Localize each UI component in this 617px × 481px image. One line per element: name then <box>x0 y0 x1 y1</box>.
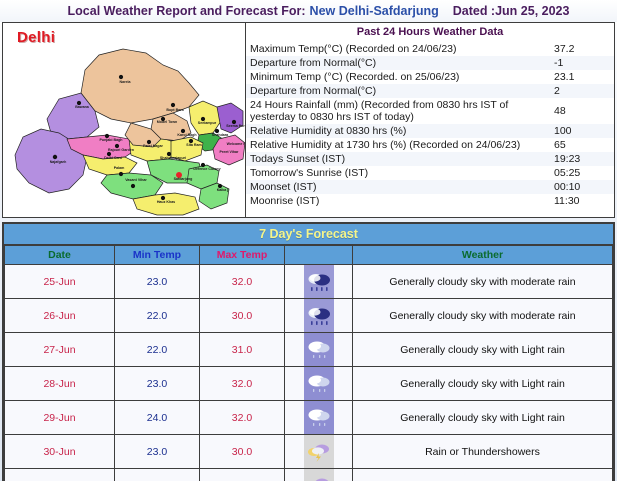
forecast-section: 7 Day's Forecast Date Min Temp Max Temp … <box>2 222 615 481</box>
map-title: Delhi <box>17 29 55 46</box>
past-24h-value: 37.2 <box>554 43 608 55</box>
map-label: Welcome Pur <box>227 142 246 146</box>
past-24h-value: 05:25 <box>554 167 608 179</box>
past-24h-label: Departure from Normal(°C) <box>250 57 554 69</box>
cell-date: 27-Jun <box>5 333 115 367</box>
map-label: Kalka ji <box>217 188 230 192</box>
table-row[interactable]: 28-Jun23.032.0Generally cloudy sky with … <box>5 367 613 401</box>
cell-weather-text: Generally cloudy sky with Light rain <box>353 367 613 401</box>
past-24h-title: Past 24 Hours Weather Data <box>246 23 614 42</box>
delhi-map-panel[interactable]: Delhi <box>3 23 246 217</box>
map-label: Model Town <box>157 120 178 124</box>
map-label: Seelampur <box>198 121 217 125</box>
map-label: Shahdara <box>212 133 229 137</box>
cell-weather-text: Generally cloudy sky with moderate rain <box>353 265 613 299</box>
map-label: Patel Nagar <box>143 144 163 148</box>
past-24h-row: Moonrise (IST)11:30 <box>246 194 614 208</box>
past-24h-value: 23.1 <box>554 71 608 83</box>
past-24h-value: 19:23 <box>554 153 608 165</box>
past-24h-label: 24 Hours Rainfall (mm) (Recorded from 08… <box>250 99 554 123</box>
cell-max-temp: 30.0 <box>200 435 285 469</box>
past-24h-label: Departure from Normal(°C) <box>250 85 554 97</box>
map-label: Karol Bagh <box>177 133 196 137</box>
map-label: Seema Puri <box>226 124 246 128</box>
map-label: Bupt Bara <box>166 108 184 112</box>
cell-weather-icon <box>285 469 353 481</box>
map-label: Palam <box>114 166 125 170</box>
cell-min-temp: 23.0 <box>115 367 200 401</box>
table-row[interactable]: 29-Jun24.032.0Generally cloudy sky with … <box>5 401 613 435</box>
cell-min-temp: 22.0 <box>115 333 200 367</box>
cell-weather-text: Generally cloudy sky with Light rain <box>353 333 613 367</box>
past-24h-row: Relative Humidity at 0830 hrs (%)100 <box>246 124 614 138</box>
delhi-district-map[interactable]: NarelaBawanaBupt BaraModel TownSeelampur… <box>3 23 246 217</box>
cell-date: 29-Jun <box>5 401 115 435</box>
map-label: Safdarjung <box>174 177 193 181</box>
past-24h-value: 11:30 <box>554 195 608 207</box>
cell-date: 01-Jul <box>5 469 115 481</box>
cell-weather-icon <box>285 333 353 367</box>
past-24h-value: 65 <box>554 139 608 151</box>
cell-max-temp: 32.0 <box>200 367 285 401</box>
cell-max-temp: 31.0 <box>200 333 285 367</box>
past-24h-panel: Past 24 Hours Weather Data Maximum Temp(… <box>246 23 614 217</box>
weather-report-page: Local Weather Report and Forecast For: N… <box>0 0 617 481</box>
map-label: Vasant Vihar <box>125 178 147 182</box>
past-24h-row: Tomorrow's Sunrise (IST)05:25 <box>246 166 614 180</box>
forecast-title: 7 Day's Forecast <box>4 224 613 246</box>
table-row[interactable]: 30-Jun23.030.0Rain or Thundershowers <box>5 435 613 469</box>
title-prefix: Local Weather Report and Forecast For: <box>68 4 306 18</box>
cell-max-temp: 30.0 <box>200 299 285 333</box>
cell-min-temp: 24.0 <box>115 401 200 435</box>
moderate-rain-icon <box>304 265 334 298</box>
upper-section: Delhi <box>2 22 615 218</box>
past-24h-row: Minimum Temp (°C) (Recorded. on 25/06/23… <box>246 70 614 84</box>
cell-date: 26-Jun <box>5 299 115 333</box>
past-24h-row: Todays Sunset (IST)19:23 <box>246 152 614 166</box>
map-label: Bawana <box>75 105 90 109</box>
cell-date: 30-Jun <box>5 435 115 469</box>
cell-max-temp: 32.0 <box>200 265 285 299</box>
cell-min-temp: 23.0 <box>115 469 200 481</box>
past-24h-row: Departure from Normal(°C)-1 <box>246 56 614 70</box>
cell-date: 28-Jun <box>5 367 115 401</box>
past-24h-value: 100 <box>554 125 608 137</box>
map-label: Narela <box>120 80 132 84</box>
past-24h-row: Relative Humidity at 1730 hrs (%) (Recor… <box>246 138 614 152</box>
past-24h-label: Maximum Temp(°C) (Recorded on 24/06/23) <box>250 43 554 55</box>
map-label: Rajouri Garden <box>108 148 134 152</box>
past-24h-label: Minimum Temp (°C) (Recorded. on 25/06/23… <box>250 71 554 83</box>
cell-min-temp: 23.0 <box>115 435 200 469</box>
past-24h-label: Todays Sunset (IST) <box>250 153 554 165</box>
past-24h-value: -1 <box>554 57 608 69</box>
table-row[interactable]: 01-Jul23.031.0Rain or Thundershowers <box>5 469 613 481</box>
past-24h-value: 2 <box>554 85 608 97</box>
map-label: Preet Vihar <box>220 150 240 154</box>
table-row[interactable]: 25-Jun23.032.0Generally cloudy sky with … <box>5 265 613 299</box>
cell-weather-text: Rain or Thundershowers <box>353 469 613 481</box>
map-label: Shahdarajapuri <box>160 156 186 160</box>
cell-min-temp: 23.0 <box>115 265 200 299</box>
map-label: Punjabi Bagh <box>100 138 123 142</box>
column-header-min-temp[interactable]: Min Temp <box>115 246 200 265</box>
past-24h-rows: Maximum Temp(°C) (Recorded on 24/06/23)3… <box>246 42 614 208</box>
forecast-header-row: Date Min Temp Max Temp Weather <box>5 246 613 265</box>
map-label: Hauz Khas <box>157 200 175 204</box>
page-title: Local Weather Report and Forecast For: N… <box>0 0 617 22</box>
cell-min-temp: 22.0 <box>115 299 200 333</box>
cell-weather-text: Rain or Thundershowers <box>353 435 613 469</box>
moderate-rain-icon <box>304 299 334 332</box>
past-24h-value: 48 <box>554 105 608 117</box>
cell-weather-text: Generally cloudy sky with moderate rain <box>353 299 613 333</box>
map-label: Najafgarh <box>50 160 67 164</box>
region-seema-puri[interactable] <box>217 103 243 133</box>
forecast-table: Date Min Temp Max Temp Weather 25-Jun23.… <box>4 246 613 481</box>
past-24h-row: 24 Hours Rainfall (mm) (Recorded from 08… <box>246 98 614 124</box>
light-rain-icon <box>304 367 334 400</box>
past-24h-label: Tomorrow's Sunrise (IST) <box>250 167 554 179</box>
thundershower-icon <box>304 435 334 468</box>
past-24h-value: 00:10 <box>554 181 608 193</box>
table-row[interactable]: 27-Jun22.031.0Generally cloudy sky with … <box>5 333 613 367</box>
table-row[interactable]: 26-Jun22.030.0Generally cloudy sky with … <box>5 299 613 333</box>
past-24h-row: Departure from Normal(°C)2 <box>246 84 614 98</box>
light-rain-icon <box>304 401 334 434</box>
cell-date: 25-Jun <box>5 265 115 299</box>
cell-weather-icon <box>285 401 353 435</box>
column-header-icon <box>285 246 353 265</box>
title-date: Dated :Jun 25, 2023 <box>453 4 570 18</box>
light-rain-icon <box>304 333 334 366</box>
cell-max-temp: 31.0 <box>200 469 285 481</box>
cell-max-temp: 32.0 <box>200 401 285 435</box>
past-24h-label: Moonset (IST) <box>250 181 554 193</box>
title-station: New Delhi-Safdarjung <box>310 4 439 18</box>
column-header-max-temp[interactable]: Max Temp <box>200 246 285 265</box>
cell-weather-icon <box>285 299 353 333</box>
past-24h-label: Relative Humidity at 0830 hrs (%) <box>250 125 554 137</box>
thundershower-icon <box>304 469 334 481</box>
map-label: Delhi Cant <box>104 156 123 160</box>
column-header-date[interactable]: Date <box>5 246 115 265</box>
past-24h-row: Moonset (IST)00:10 <box>246 180 614 194</box>
cell-weather-icon <box>285 367 353 401</box>
cell-weather-text: Generally cloudy sky with Light rain <box>353 401 613 435</box>
cell-weather-icon <box>285 435 353 469</box>
map-label: Sita Ram <box>186 143 201 147</box>
past-24h-row: Maximum Temp(°C) (Recorded on 24/06/23)3… <box>246 42 614 56</box>
map-label: Defence Colony <box>193 167 220 171</box>
forecast-body: 25-Jun23.032.0Generally cloudy sky with … <box>5 265 613 481</box>
past-24h-label: Relative Humidity at 1730 hrs (%) (Recor… <box>250 139 554 151</box>
column-header-weather[interactable]: Weather <box>353 246 613 265</box>
cell-weather-icon <box>285 265 353 299</box>
past-24h-label: Moonrise (IST) <box>250 195 554 207</box>
